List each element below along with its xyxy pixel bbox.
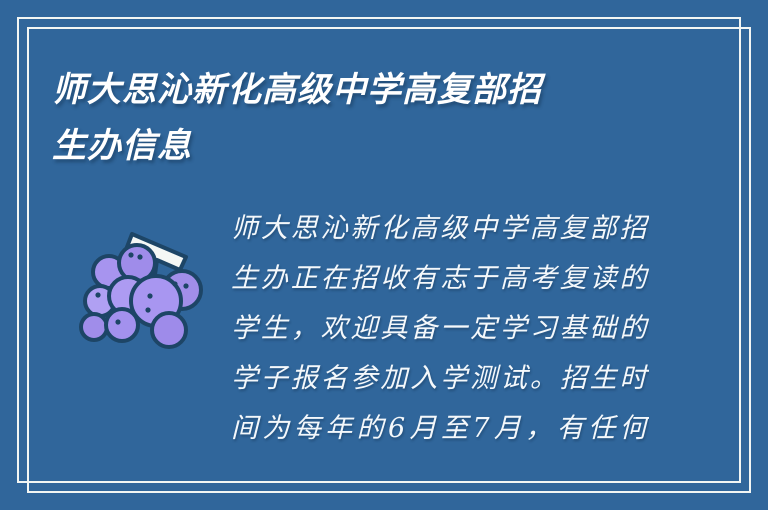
grapes-icon	[74, 200, 224, 350]
card-body-text: 师大思沁新化高级中学高复部招生办正在招收有志于高考复读的学生，欢迎具备一定学习基…	[231, 204, 649, 456]
info-card: 师大思沁新化高级中学高复部招 生办信息	[0, 0, 768, 510]
card-title: 师大思沁新化高级中学高复部招 生办信息	[52, 62, 652, 174]
